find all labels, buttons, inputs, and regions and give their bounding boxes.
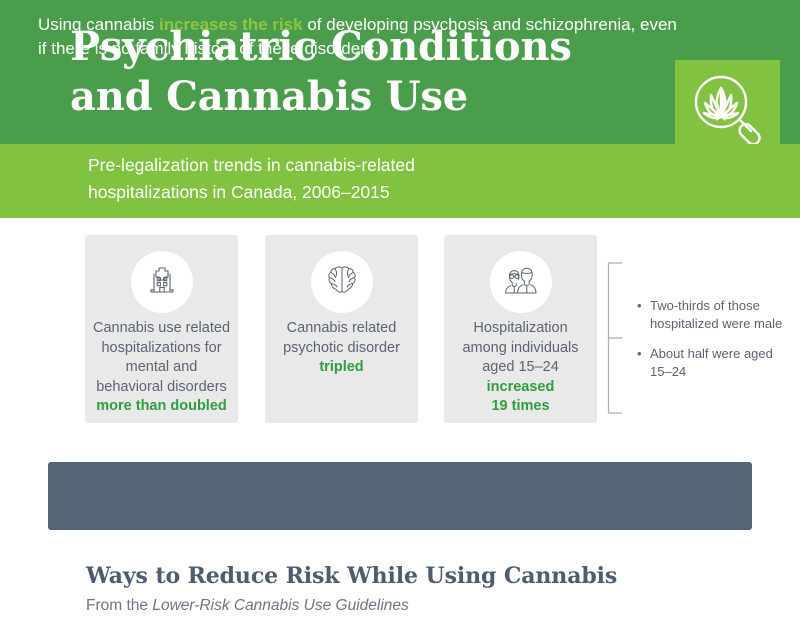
card-text-line-4: behavioral disorders [91, 378, 232, 398]
card-text-line-2: psychotic disorder [271, 339, 412, 359]
card-highlight-line-1: increased [450, 378, 591, 398]
card-icon-badge [311, 251, 373, 313]
bullet-list: Two-thirds of those hospitalized were ma… [637, 297, 787, 393]
card-highlight: tripled [271, 358, 412, 378]
card-text-line-1: Cannabis use related [91, 319, 232, 339]
list-item: Two-thirds of those hospitalized were ma… [637, 297, 787, 332]
two-people-icon [501, 263, 541, 302]
callout-text-part-1: Using cannabis [38, 15, 159, 34]
stat-card: Cannabis use related hospitalizations fo… [85, 235, 238, 423]
card-highlight-line-2: 19 times [450, 397, 591, 417]
page-subtitle-line-1: Pre-legalization trends in cannabis-rela… [88, 152, 648, 179]
footer-subtitle-prefix: From the [86, 597, 152, 614]
stat-card: Cannabis related psychotic disorder trip… [265, 235, 418, 423]
callout-text: Using cannabis increases the risk of dev… [38, 13, 678, 61]
stat-card: Hospitalization among individuals aged 1… [444, 235, 597, 423]
card-highlight: more than doubled [91, 397, 232, 417]
infographic-page: Psychiatric Conditions and Cannabis Use … [0, 0, 800, 640]
hospital-icon [145, 263, 179, 302]
card-icon-badge [490, 251, 552, 313]
footer-heading: Ways to Reduce Risk While Using Cannabis [86, 562, 617, 590]
card-text-line-2: among individuals [450, 339, 591, 359]
callout-highlight: increases the risk [159, 15, 303, 34]
card-text-line-1: Hospitalization [450, 319, 591, 339]
bracket-connector [600, 262, 634, 419]
page-title-line-2: and Cannabis Use [70, 72, 670, 122]
callout-box [48, 462, 752, 530]
card-text: Hospitalization among individuals aged 1… [450, 319, 591, 417]
card-text-line-3: mental and [91, 358, 232, 378]
footer-subtitle-title: Lower-Risk Cannabis Use Guidelines [152, 597, 408, 614]
card-icon-badge [131, 251, 193, 313]
card-text: Cannabis use related hospitalizations fo… [91, 319, 232, 417]
card-text-line-1: Cannabis related [271, 319, 412, 339]
card-text-line-2: hospitalizations for [91, 339, 232, 359]
page-subtitle: Pre-legalization trends in cannabis-rela… [88, 152, 648, 206]
brain-icon [325, 264, 359, 301]
list-item: About half were aged 15–24 [637, 345, 787, 380]
footer-subtitle: From the Lower-Risk Cannabis Use Guideli… [86, 595, 409, 616]
page-subtitle-line-2: hospitalizations in Canada, 2006–2015 [88, 179, 648, 206]
card-text-line-3: aged 15–24 [450, 358, 591, 378]
card-text: Cannabis related psychotic disorder trip… [271, 319, 412, 378]
